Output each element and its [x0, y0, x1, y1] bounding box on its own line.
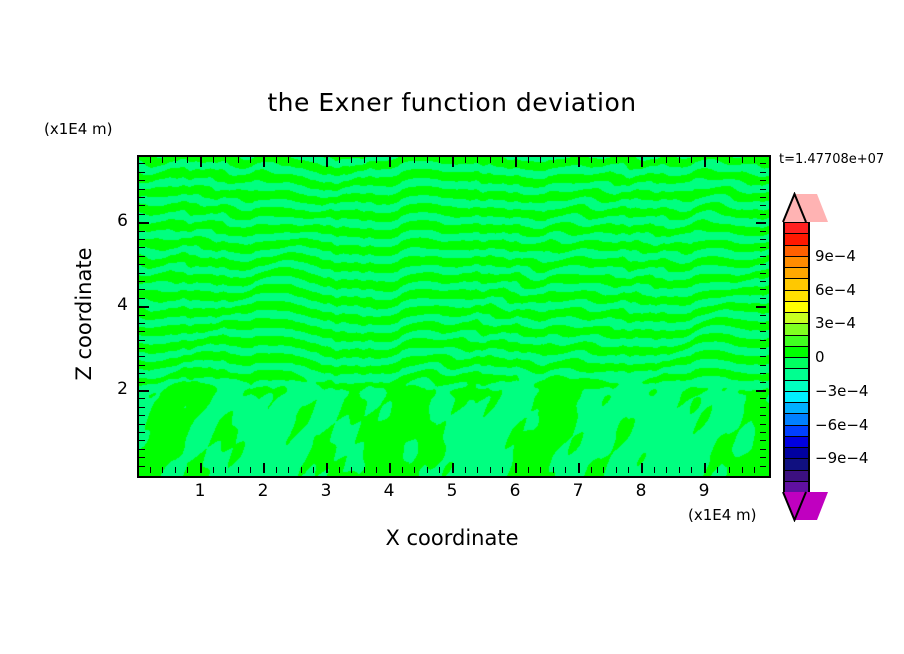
tick-mark [616, 467, 617, 473]
x-tick-label: 2 [243, 481, 283, 501]
tick-mark [301, 157, 302, 163]
tick-mark [162, 157, 163, 163]
tick-mark [490, 157, 491, 163]
tick-mark [452, 157, 454, 167]
tick-mark [139, 289, 145, 290]
tick-mark [654, 157, 655, 163]
y-tick-label: 2 [88, 379, 128, 399]
tick-mark [139, 440, 145, 441]
tick-mark [313, 467, 314, 473]
colorbar-label: 6e−4 [815, 281, 856, 299]
tick-mark [742, 467, 743, 473]
tick-mark [502, 467, 503, 473]
colorbar-label: −3e−4 [815, 382, 868, 400]
y-tick-label: 4 [88, 295, 128, 315]
tick-mark [139, 466, 145, 467]
tick-mark [628, 157, 629, 163]
tick-mark [760, 382, 766, 383]
tick-mark [276, 157, 277, 163]
page-title: the Exner function deviation [0, 88, 904, 117]
tick-mark [654, 467, 655, 473]
tick-mark [139, 231, 145, 232]
colorbar-label: −6e−4 [815, 416, 868, 434]
tick-mark [389, 463, 391, 473]
tick-mark [666, 157, 667, 163]
x-tick-label: 7 [558, 481, 598, 501]
tick-mark [439, 157, 440, 163]
tick-mark [515, 463, 517, 473]
tick-mark [139, 331, 145, 332]
tick-mark [139, 315, 145, 316]
tick-mark [578, 157, 580, 167]
tick-mark [691, 467, 692, 473]
tick-mark [704, 463, 706, 473]
tick-mark [139, 172, 145, 173]
tick-mark [162, 467, 163, 473]
tick-mark [502, 157, 503, 163]
tick-mark [452, 463, 454, 473]
tick-mark [704, 157, 706, 167]
tick-mark [477, 157, 478, 163]
tick-mark [760, 205, 766, 206]
tick-mark [717, 157, 718, 163]
tick-mark [760, 214, 766, 215]
tick-mark [364, 467, 365, 473]
colorbar-over-arrow [783, 194, 828, 222]
tick-mark [760, 197, 766, 198]
tick-mark [376, 157, 377, 163]
tick-mark [139, 189, 145, 190]
x-tick-label: 6 [495, 481, 535, 501]
tick-mark [139, 449, 145, 450]
tick-mark [603, 157, 604, 163]
tick-mark [139, 398, 145, 399]
tick-mark [238, 467, 239, 473]
tick-mark [150, 157, 151, 163]
tick-mark [760, 180, 766, 181]
tick-mark [139, 214, 145, 215]
tick-mark [641, 463, 643, 473]
tick-mark [515, 157, 517, 167]
tick-mark [351, 467, 352, 473]
colorbar-label: 9e−4 [815, 247, 856, 265]
tick-mark [326, 157, 328, 167]
tick-mark [760, 449, 766, 450]
tick-mark [760, 189, 766, 190]
tick-mark [477, 467, 478, 473]
tick-mark [402, 467, 403, 473]
x-tick-label: 1 [180, 481, 220, 501]
tick-mark [139, 323, 145, 324]
tick-mark [139, 407, 145, 408]
x-tick-label: 9 [684, 481, 724, 501]
tick-mark [326, 463, 328, 473]
tick-mark [465, 157, 466, 163]
x-tick-label: 8 [621, 481, 661, 501]
tick-mark [760, 239, 766, 240]
tick-mark [760, 256, 766, 257]
tick-mark [578, 463, 580, 473]
tick-mark [139, 180, 145, 181]
tick-mark [263, 157, 265, 167]
tick-mark [679, 467, 680, 473]
tick-mark [139, 256, 145, 257]
tick-mark [213, 157, 214, 163]
tick-mark [760, 457, 766, 458]
tick-mark [760, 348, 766, 349]
tick-mark [679, 157, 680, 163]
tick-mark [760, 163, 766, 164]
tick-mark [760, 432, 766, 433]
tick-mark [717, 467, 718, 473]
tick-mark [616, 157, 617, 163]
tick-mark [139, 382, 145, 383]
tick-mark [139, 457, 145, 458]
colorbar: 9e−46e−43e−40−3e−4−6e−4−9e−4 [783, 222, 806, 492]
tick-mark [729, 157, 730, 163]
tick-mark [760, 356, 766, 357]
tick-mark [139, 340, 145, 341]
tick-mark [276, 467, 277, 473]
tick-mark [139, 415, 145, 416]
tick-mark [414, 157, 415, 163]
x-axis-title: X coordinate [0, 526, 904, 550]
tick-mark [339, 467, 340, 473]
tick-mark [175, 157, 176, 163]
colorbar-under-arrow [783, 492, 828, 520]
tick-mark [139, 298, 145, 299]
y-axis-unit-label: (x1E4 m) [44, 120, 113, 138]
tick-mark [263, 463, 265, 473]
tick-mark [760, 264, 766, 265]
tick-mark [402, 157, 403, 163]
tick-mark [225, 467, 226, 473]
tick-mark [760, 407, 766, 408]
tick-mark [238, 157, 239, 163]
tick-mark [250, 467, 251, 473]
tick-mark [139, 390, 149, 392]
tick-mark [139, 163, 145, 164]
tick-mark [760, 298, 766, 299]
tick-mark [756, 306, 766, 308]
tick-mark [427, 157, 428, 163]
tick-mark [139, 306, 149, 308]
tick-mark [465, 467, 466, 473]
tick-mark [760, 289, 766, 290]
tick-mark [364, 157, 365, 163]
tick-mark [628, 467, 629, 473]
tick-mark [288, 157, 289, 163]
tick-mark [139, 264, 145, 265]
tick-mark [756, 222, 766, 224]
tick-mark [250, 157, 251, 163]
tick-mark [288, 467, 289, 473]
tick-mark [376, 467, 377, 473]
contour-field [139, 157, 769, 476]
tick-mark [666, 467, 667, 473]
tick-mark [414, 467, 415, 473]
tick-mark [213, 467, 214, 473]
tick-mark [565, 467, 566, 473]
tick-mark [760, 247, 766, 248]
tick-mark [760, 398, 766, 399]
tick-mark [760, 424, 766, 425]
tick-mark [339, 157, 340, 163]
tick-mark [139, 222, 149, 224]
tick-mark [200, 463, 202, 473]
colorbar-label: −9e−4 [815, 449, 868, 467]
tick-mark [603, 467, 604, 473]
tick-mark [760, 340, 766, 341]
tick-mark [760, 172, 766, 173]
tick-mark [760, 373, 766, 374]
x-axis-unit-label: (x1E4 m) [688, 506, 757, 524]
tick-mark [139, 205, 145, 206]
tick-mark [760, 440, 766, 441]
tick-mark [760, 281, 766, 282]
tick-mark [742, 157, 743, 163]
y-tick-label: 6 [88, 211, 128, 231]
tick-mark [540, 467, 541, 473]
tick-mark [139, 197, 145, 198]
tick-mark [760, 323, 766, 324]
tick-mark [139, 424, 145, 425]
tick-mark [139, 365, 145, 366]
tick-mark [754, 157, 755, 163]
x-tick-label: 5 [432, 481, 472, 501]
tick-mark [553, 467, 554, 473]
tick-mark [760, 365, 766, 366]
tick-mark [756, 390, 766, 392]
tick-mark [200, 157, 202, 167]
tick-mark [139, 247, 145, 248]
tick-mark [760, 315, 766, 316]
tick-mark [139, 356, 145, 357]
x-tick-label: 4 [369, 481, 409, 501]
tick-mark [139, 273, 145, 274]
tick-mark [528, 467, 529, 473]
tick-mark [427, 467, 428, 473]
tick-mark [351, 157, 352, 163]
tick-mark [301, 467, 302, 473]
tick-mark [729, 467, 730, 473]
x-tick-label: 3 [306, 481, 346, 501]
tick-mark [760, 231, 766, 232]
tick-mark [313, 157, 314, 163]
tick-mark [760, 466, 766, 467]
tick-mark [389, 157, 391, 167]
colorbar-label: 0 [815, 348, 825, 366]
tick-mark [150, 467, 151, 473]
tick-mark [225, 157, 226, 163]
tick-mark [641, 157, 643, 167]
tick-mark [139, 281, 145, 282]
tick-mark [760, 415, 766, 416]
tick-mark [553, 157, 554, 163]
colorbar-label: 3e−4 [815, 314, 856, 332]
tick-mark [139, 348, 145, 349]
time-stamp-annotation: t=1.47708e+07 [779, 152, 884, 167]
tick-mark [528, 157, 529, 163]
tick-mark [565, 157, 566, 163]
tick-mark [490, 467, 491, 473]
tick-mark [139, 432, 145, 433]
tick-mark [760, 273, 766, 274]
tick-mark [187, 157, 188, 163]
tick-mark [175, 467, 176, 473]
tick-mark [754, 467, 755, 473]
tick-mark [691, 157, 692, 163]
tick-mark [540, 157, 541, 163]
tick-mark [187, 467, 188, 473]
tick-mark [139, 373, 145, 374]
tick-mark [139, 239, 145, 240]
tick-mark [591, 467, 592, 473]
tick-mark [591, 157, 592, 163]
tick-mark [439, 467, 440, 473]
tick-mark [760, 331, 766, 332]
contour-plot-area [137, 155, 771, 478]
